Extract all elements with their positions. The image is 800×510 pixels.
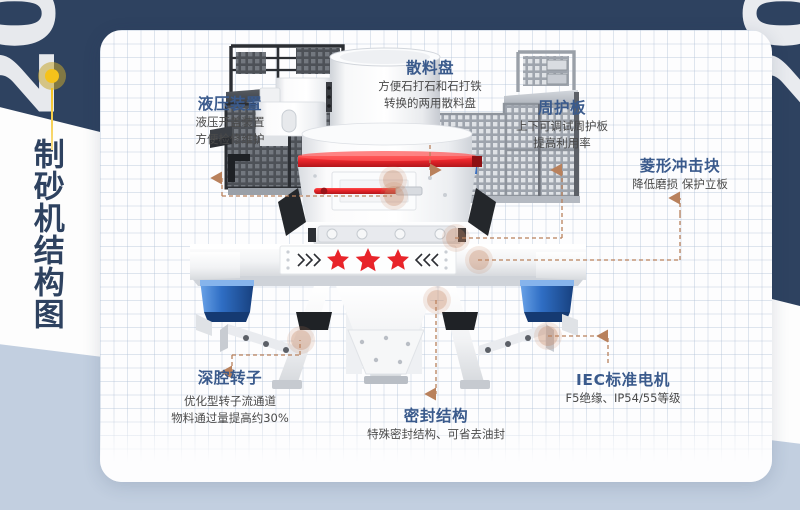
pin-stem <box>51 88 53 150</box>
callout-feed-distributor-line1: 方便石打石和石打铁 <box>354 78 506 95</box>
anchor-iec-motor <box>538 326 558 346</box>
callout-diamond-block-line1: 降低磨损 保护立板 <box>610 176 750 193</box>
machine-base <box>190 244 586 286</box>
callout-hydraulic-device-title: 液压装置 <box>166 92 294 114</box>
callout-hydraulic-device: 液压装置 液压开盖装置 方便检修维护 <box>166 92 294 149</box>
callout-deep-rotor-line2: 物料通过量提高约30% <box>130 410 330 427</box>
callout-peripheral-guard: 周护板 上下可调试周护板 提高利用率 <box>494 96 630 153</box>
callout-hydraulic-device-line1: 液压开盖装置 <box>166 114 294 131</box>
callout-hydraulic-device-line2: 方便检修维护 <box>166 131 294 148</box>
callout-peripheral-guard-line1: 上下可调试周护板 <box>494 118 630 135</box>
callout-feed-distributor-line2: 转换的两用散料盘 <box>354 95 506 112</box>
anchor-peripheral-guard <box>446 228 466 248</box>
anchor-deep-rotor <box>291 330 311 350</box>
callout-peripheral-guard-title: 周护板 <box>494 96 630 118</box>
callout-feed-distributor: 散料盘 方便石打石和石打铁 转换的两用散料盘 <box>354 56 506 113</box>
callout-deep-rotor-title: 深腔转子 <box>130 366 330 388</box>
anchor-sealing-structure <box>427 290 447 310</box>
anchor-diamond-block <box>469 250 489 270</box>
callout-sealing-structure-title: 密封结构 <box>336 404 536 426</box>
page-title: 制砂机结构图 <box>28 138 88 330</box>
callout-feed-distributor-title: 散料盘 <box>354 56 506 78</box>
callout-deep-rotor-line1: 优化型转子流通道 <box>130 393 330 410</box>
callout-sealing-structure: 密封结构 特殊密封结构、可省去油封 <box>336 404 536 443</box>
pin-dot-icon <box>45 69 59 83</box>
callout-sealing-structure-line1: 特殊密封结构、可省去油封 <box>336 426 536 443</box>
callout-iec-motor-line1: F5绝缘、IP54/55等级 <box>528 390 718 407</box>
callout-diamond-block: 菱形冲击块 降低磨损 保护立板 <box>610 154 750 193</box>
callout-iec-motor-title: IEC标准电机 <box>528 368 718 390</box>
callout-deep-rotor: 深腔转子 优化型转子流通道 物料通过量提高约30% <box>130 366 330 428</box>
page-title-text: 制砂机结构图 <box>28 138 63 330</box>
callout-iec-motor: IEC标准电机 F5绝缘、IP54/55等级 <box>528 368 718 407</box>
anchor-hydraulic-device <box>384 186 404 206</box>
callout-peripheral-guard-line2: 提高利用率 <box>494 135 630 152</box>
callout-diamond-block-title: 菱形冲击块 <box>610 154 750 176</box>
